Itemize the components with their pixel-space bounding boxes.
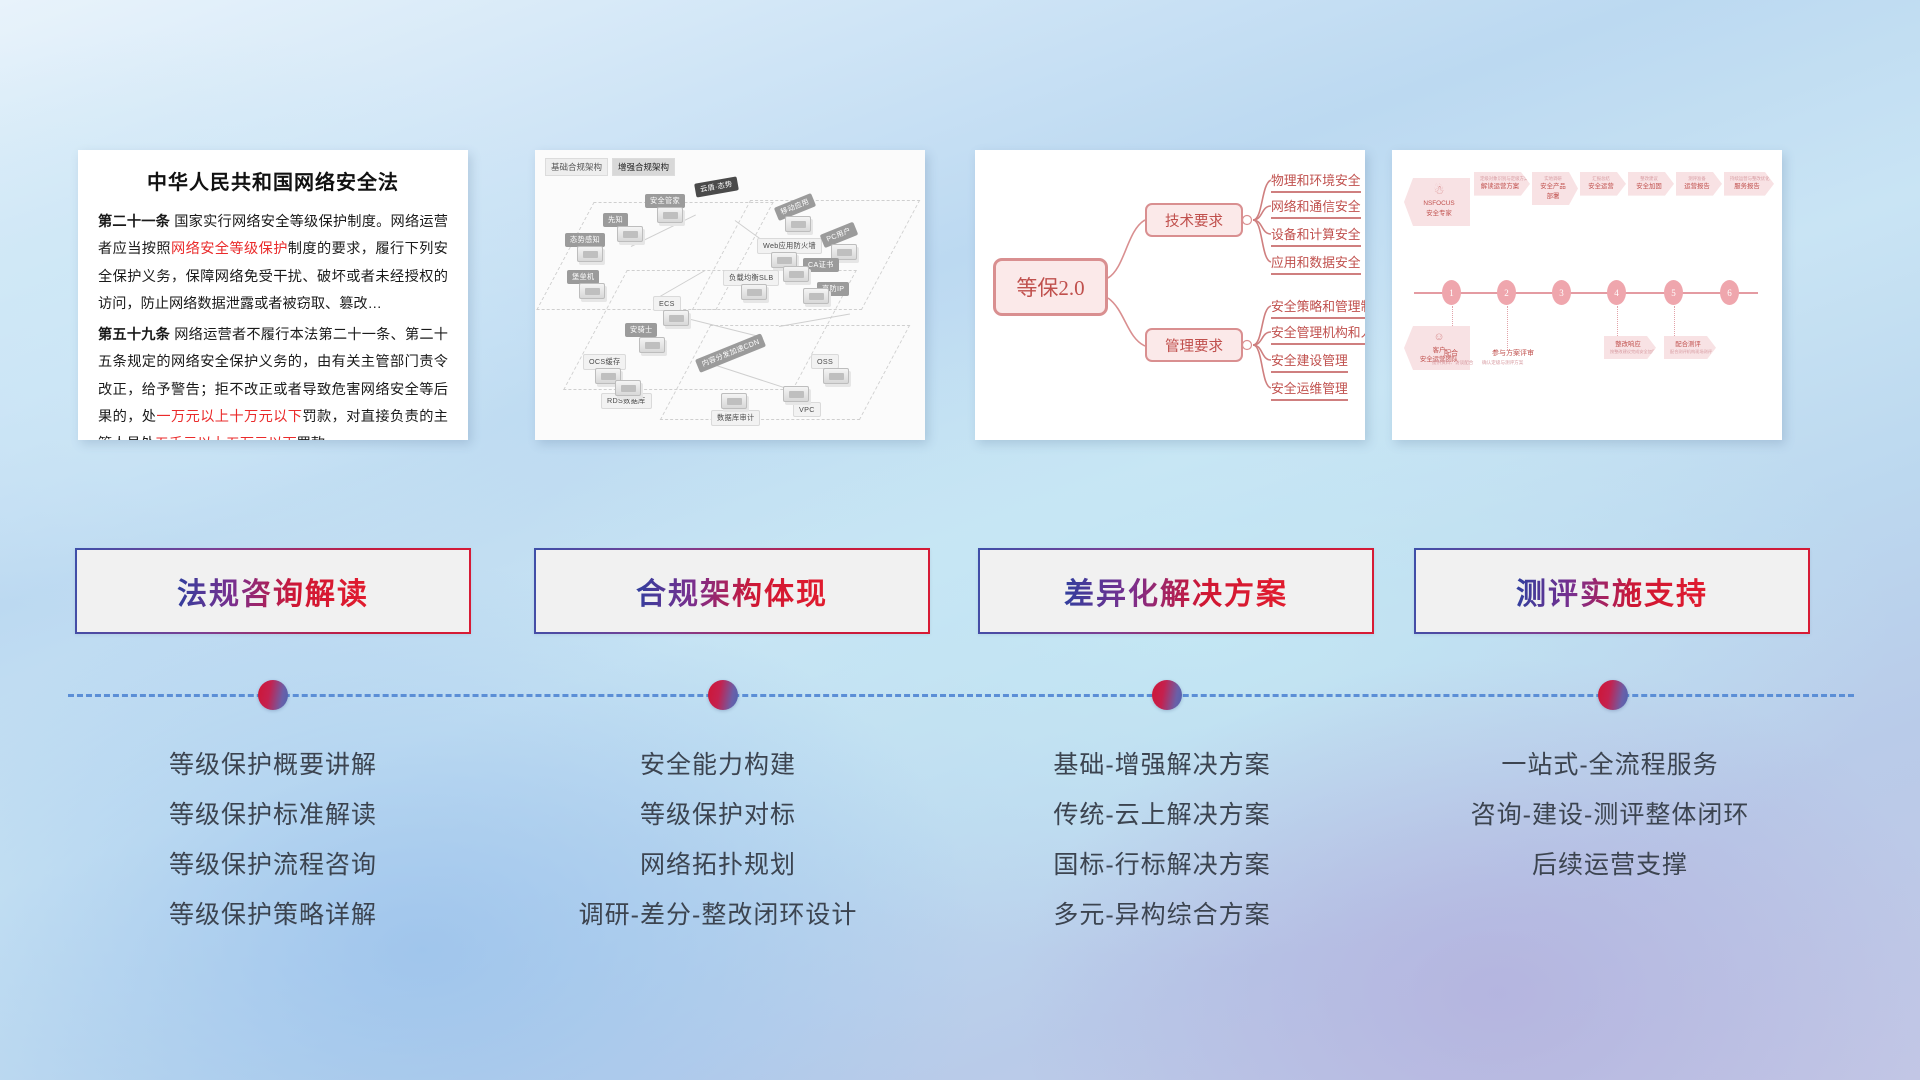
list-item: 等级保护标准解读 — [63, 790, 483, 840]
header-compliance-architecture-label: 合规架构体现 — [636, 569, 828, 613]
timeline-dot-2[interactable] — [708, 680, 738, 710]
header-assessment-support[interactable]: 测评实施支持 — [1414, 548, 1810, 634]
list-item: 等级保护策略详解 — [63, 890, 483, 940]
header-differentiated-solution-label: 差异化解决方案 — [1064, 569, 1288, 613]
column-compliance-architecture: 安全能力构建 等级保护对标 网络拓扑规划 调研-差分-整改闭环设计 — [508, 740, 928, 940]
list-item: 多元-异构综合方案 — [952, 890, 1372, 940]
header-assessment-support-label: 测评实施支持 — [1516, 569, 1708, 613]
list-item: 等级保护对标 — [508, 790, 928, 840]
list-item: 等级保护概要讲解 — [63, 740, 483, 790]
headers-row: 法规咨询解读 合规架构体现 差异化解决方案 测评实施支持 等级保护概要讲解 等级… — [0, 0, 1920, 1080]
header-regulation-consulting[interactable]: 法规咨询解读 — [75, 548, 471, 634]
list-item: 调研-差分-整改闭环设计 — [508, 890, 928, 940]
timeline-dot-1[interactable] — [258, 680, 288, 710]
header-regulation-consulting-label: 法规咨询解读 — [177, 569, 369, 613]
list-item: 基础-增强解决方案 — [952, 740, 1372, 790]
list-item: 网络拓扑规划 — [508, 840, 928, 890]
column-differentiated-solution: 基础-增强解决方案 传统-云上解决方案 国标-行标解决方案 多元-异构综合方案 — [952, 740, 1372, 940]
header-differentiated-solution[interactable]: 差异化解决方案 — [978, 548, 1374, 634]
timeline-dashed-rail — [68, 694, 1854, 697]
list-item: 后续运营支撑 — [1400, 840, 1820, 890]
list-item: 一站式-全流程服务 — [1400, 740, 1820, 790]
list-item: 等级保护流程咨询 — [63, 840, 483, 890]
column-regulation-consulting: 等级保护概要讲解 等级保护标准解读 等级保护流程咨询 等级保护策略详解 — [63, 740, 483, 940]
timeline-dot-4[interactable] — [1598, 680, 1628, 710]
timeline-dot-3[interactable] — [1152, 680, 1182, 710]
list-item: 安全能力构建 — [508, 740, 928, 790]
list-item: 咨询-建设-测评整体闭环 — [1400, 790, 1820, 840]
header-compliance-architecture[interactable]: 合规架构体现 — [534, 548, 930, 634]
column-assessment-support: 一站式-全流程服务 咨询-建设-测评整体闭环 后续运营支撑 — [1400, 740, 1820, 890]
list-item: 国标-行标解决方案 — [952, 840, 1372, 890]
list-item: 传统-云上解决方案 — [952, 790, 1372, 840]
